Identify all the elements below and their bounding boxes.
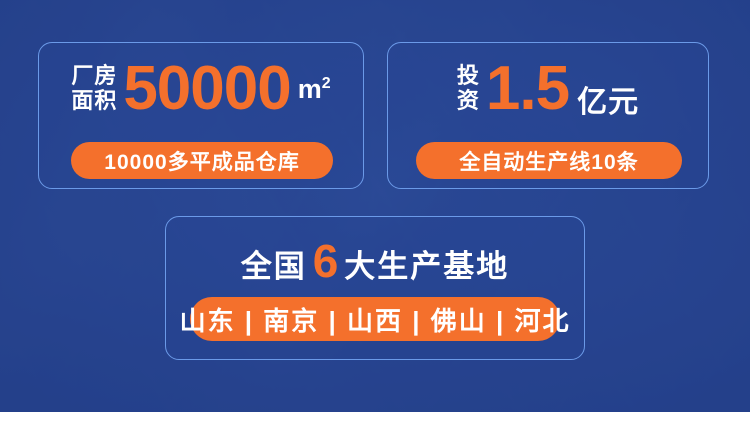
investment-label: 投 资 bbox=[457, 64, 480, 113]
investment-label-line1: 投 bbox=[457, 64, 480, 89]
factory-area-unit: m2 bbox=[298, 76, 331, 103]
factory-area-unit-base: m bbox=[298, 74, 322, 104]
pill-warehouse: 10000多平成品仓库 bbox=[71, 142, 333, 179]
pill-warehouse-label: 10000多平成品仓库 bbox=[104, 146, 299, 176]
investment-value: 1.5 bbox=[486, 60, 569, 117]
investment-unit: 亿元 bbox=[577, 77, 639, 125]
production-bases-value: 6 bbox=[313, 238, 339, 284]
factory-area-label: 厂房 面积 bbox=[71, 64, 117, 113]
investment-label-line2: 资 bbox=[457, 89, 480, 114]
pill-base-cities-label: 山东 | 南京 | 山西 | 佛山 | 河北 bbox=[180, 301, 571, 338]
factory-area-label-line1: 厂房 bbox=[71, 64, 117, 89]
pill-base-cities: 山东 | 南京 | 山西 | 佛山 | 河北 bbox=[190, 297, 560, 341]
pill-production-lines-label: 全自动生产线10条 bbox=[459, 146, 638, 176]
promo-banner: 厂房 面积 50000 m2 10000多平成品仓库 投 资 1.5 亿元 全自… bbox=[0, 0, 750, 436]
factory-area-value: 50000 bbox=[123, 60, 290, 117]
pill-production-lines: 全自动生产线10条 bbox=[416, 142, 682, 179]
production-bases-suffix: 大生产基地 bbox=[344, 241, 509, 286]
factory-area-unit-superscript: 2 bbox=[322, 75, 331, 92]
headline-factory-area: 厂房 面积 50000 m2 bbox=[38, 53, 364, 125]
headline-investment: 投 资 1.5 亿元 bbox=[387, 53, 709, 125]
factory-area-label-line2: 面积 bbox=[71, 89, 117, 114]
headline-production-bases: 全国 6 大生产基地 bbox=[165, 237, 585, 289]
production-bases-prefix: 全国 bbox=[241, 241, 307, 286]
